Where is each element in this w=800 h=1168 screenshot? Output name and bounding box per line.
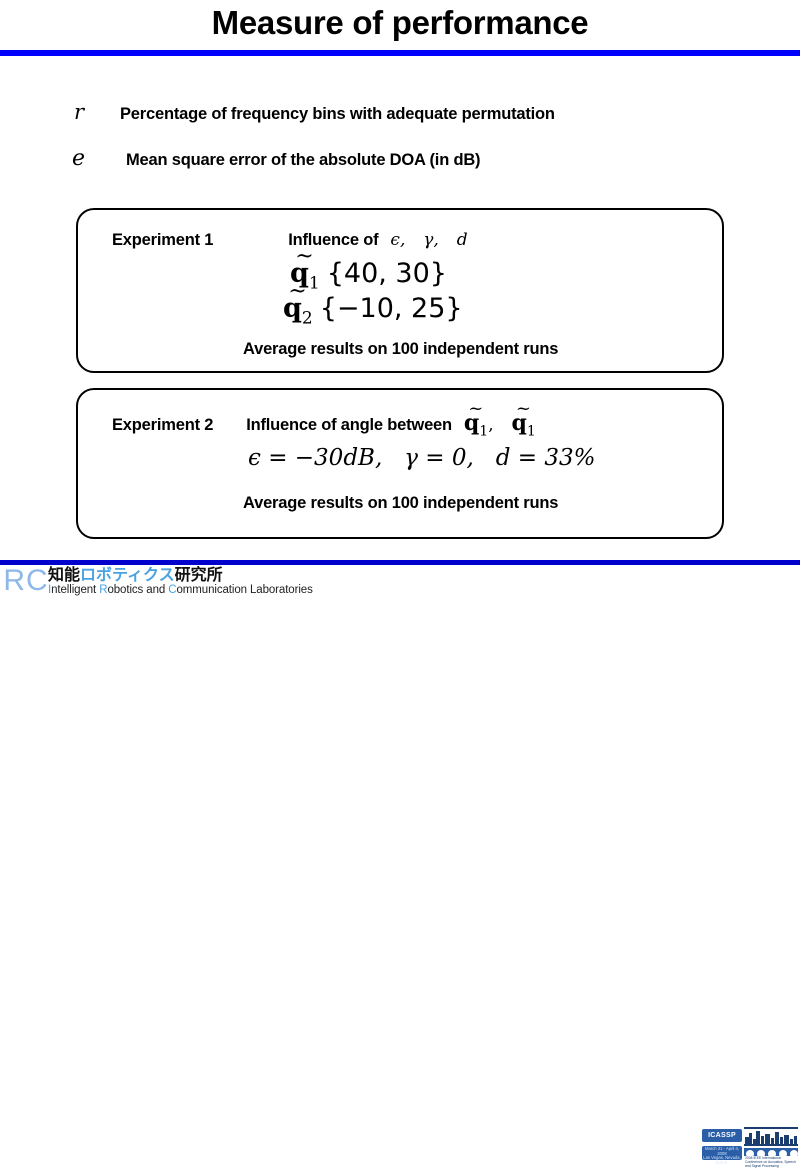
icassp-dates-text: March 31 - April 4, 2008Las Vegas, Nevad… (703, 1146, 740, 1165)
q-subscript: 1 (527, 423, 536, 439)
tilde-accent-icon: ~ (295, 244, 313, 269)
experiment-2-box: Experiment 2 Influence of angle between … (76, 388, 724, 539)
epsilon-equation: ϵ = −30dB, (248, 445, 382, 471)
symbol-e: e (70, 146, 118, 171)
q-tilde-vector-b: ~q1 (512, 410, 536, 439)
definition-row-e: e Mean square error of the absolute DOA … (70, 146, 770, 171)
q-tilde-vector-2: ~q2 (283, 293, 313, 328)
q-subscript: 2 (302, 308, 313, 328)
gamma-equation: γ = 0, (404, 445, 474, 471)
experiment-1-label: Experiment 1 (112, 231, 213, 250)
lab-name-ja-part2: ロボティクス (80, 565, 175, 584)
q-subscript: 1 (479, 423, 488, 439)
experiment-1-equation-1: ~q1{40, 30} (290, 258, 447, 293)
lab-en-text-1: ntelligent (51, 584, 99, 596)
q1-set-values: {40, 30} (327, 258, 447, 289)
experiment-2-label: Experiment 2 (112, 416, 213, 435)
definition-text-e: Mean square error of the absolute DOA (i… (118, 151, 480, 170)
tilde-accent-icon: ~ (288, 279, 306, 304)
icassp-dates-badge: March 31 - April 4, 2008Las Vegas, Nevad… (702, 1146, 742, 1160)
comma-separator: , (488, 415, 493, 435)
title-divider (0, 50, 800, 56)
conference-caption-text: 2008 IEEE International Conference on Ac… (745, 1156, 796, 1168)
lab-en-initial-c: C (168, 584, 176, 596)
q-subscript: 1 (309, 273, 320, 293)
conference-logo-group: ICASSP March 31 - April 4, 2008Las Vegas… (702, 1127, 798, 1163)
lab-name-english: Intelligent Robotics and Communication L… (48, 584, 313, 596)
lab-name-ja-part1: 知能 (48, 565, 80, 584)
gamma-symbol: γ, (423, 230, 439, 250)
page-title: Measure of performance (0, 4, 800, 42)
definition-row-r: r Percentage of frequency bins with adeq… (70, 100, 770, 124)
experiment-1-params: ϵ, γ, d (390, 230, 467, 250)
experiment-2-subject: Influence of angle between (246, 416, 452, 435)
experiment-2-vectors: ~q1, ~q1 (464, 410, 536, 439)
experiment-1-header: Experiment 1 Influence of ϵ, γ, d (112, 230, 468, 250)
q2-set-values: {−10, 25} (320, 293, 463, 324)
icassp-badge: ICASSP (702, 1129, 742, 1142)
lab-name-ja-part3: 研究所 (175, 565, 223, 584)
conference-caption: 2008 IEEE International Conference on Ac… (745, 1156, 799, 1168)
q-tilde-vector-a: ~q1 (464, 410, 488, 439)
symbol-r: r (70, 100, 120, 124)
lab-en-text-3: ommunication Laboratories (177, 584, 313, 596)
definition-text-r: Percentage of frequency bins with adequa… (120, 105, 555, 124)
tilde-accent-icon: ~ (468, 398, 483, 419)
d-symbol: d (457, 230, 468, 250)
d-equation: d = 33% (496, 445, 596, 471)
lab-name-japanese: 知能ロボティクス研究所 (48, 566, 223, 583)
epsilon-symbol: ϵ, (390, 230, 405, 250)
tilde-accent-icon: ~ (516, 398, 531, 419)
footer: IRC 知能ロボティクス研究所 Intelligent Robotics and… (0, 565, 800, 599)
lab-en-text-2: obotics and (107, 584, 168, 596)
experiment-2-header: Experiment 2 Influence of angle between … (112, 410, 536, 439)
experiment-2-equation: ϵ = −30dB, γ = 0, d = 33% (248, 445, 595, 471)
experiment-1-box: Experiment 1 Influence of ϵ, γ, d ~q1{40… (76, 208, 724, 373)
experiment-2-average-note: Average results on 100 independent runs (243, 494, 558, 513)
irc-logo-mark: IRC (0, 565, 49, 597)
experiment-1-average-note: Average results on 100 independent runs (243, 340, 558, 359)
experiment-1-equation-2: ~q2{−10, 25} (283, 293, 463, 328)
